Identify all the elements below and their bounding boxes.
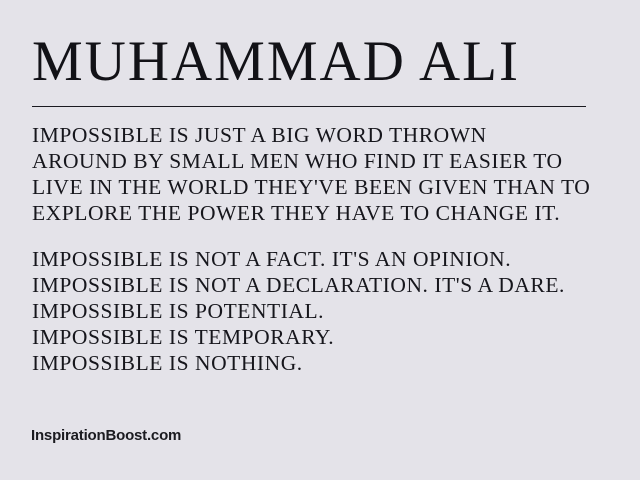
site-watermark: InspirationBoost.com: [31, 427, 181, 444]
quote-line: IMPOSSIBLE IS NOTHING.: [32, 350, 612, 376]
quote-card: MUHAMMAD ALI IMPOSSIBLE IS JUST A BIG WO…: [0, 0, 640, 480]
quote-line: AROUND BY SMALL MEN WHO FIND IT EASIER T…: [32, 148, 612, 174]
quote-line: IMPOSSIBLE IS JUST A BIG WORD THROWN: [32, 122, 612, 148]
quote-line: IMPOSSIBLE IS TEMPORARY.: [32, 324, 612, 350]
page-title: MUHAMMAD ALI: [32, 33, 520, 90]
quote-line: IMPOSSIBLE IS NOT A FACT. IT'S AN OPINIO…: [32, 246, 612, 272]
quote-line: EXPLORE THE POWER THEY HAVE TO CHANGE IT…: [32, 200, 612, 226]
quote-text-block: IMPOSSIBLE IS JUST A BIG WORD THROWN ARO…: [32, 122, 612, 376]
quote-paragraph-2: IMPOSSIBLE IS NOT A FACT. IT'S AN OPINIO…: [32, 246, 612, 376]
quote-line: IMPOSSIBLE IS NOT A DECLARATION. IT'S A …: [32, 272, 612, 298]
quote-line: LIVE IN THE WORLD THEY'VE BEEN GIVEN THA…: [32, 174, 612, 200]
quote-line: IMPOSSIBLE IS POTENTIAL.: [32, 298, 612, 324]
title-divider: [32, 106, 586, 107]
quote-paragraph-1: IMPOSSIBLE IS JUST A BIG WORD THROWN ARO…: [32, 122, 612, 226]
